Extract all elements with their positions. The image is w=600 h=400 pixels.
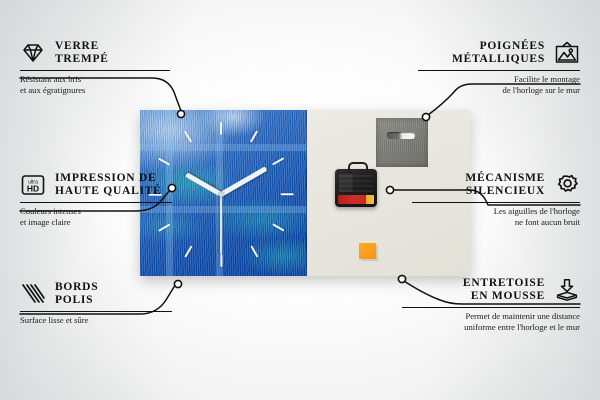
svg-text:HD: HD (27, 184, 39, 194)
feature-title: MÉCANISME SILENCIEUX (412, 172, 545, 198)
hands-center-cap (219, 192, 224, 197)
feature-impression-haute-qualite: ultra HD IMPRESSION DE HAUTE QUALITÉ Cou… (20, 172, 195, 228)
feature-rule (402, 307, 580, 308)
foam-spacer-icon (554, 278, 580, 302)
hour-marker (184, 131, 193, 143)
feature-rule (20, 202, 172, 203)
feature-description: Les aiguilles de l'horloge ne font aucun… (412, 206, 580, 227)
battery (338, 195, 374, 204)
clock-mechanism-box (335, 169, 377, 207)
feature-rule (20, 70, 170, 71)
hour-marker (220, 254, 222, 267)
hour-marker (250, 245, 259, 257)
foam-spacer-pad (359, 243, 376, 259)
hand-second (220, 194, 222, 254)
metal-hanger-plate (376, 118, 428, 167)
feature-title: VERRE TREMPÉ (55, 40, 109, 66)
feature-mecanisme-silencieux: MÉCANISME SILENCIEUX Les aiguilles de l'… (412, 172, 580, 228)
feature-rule (412, 202, 580, 203)
infographic-canvas: VERRE TREMPÉ Résistant aux bris et aux é… (0, 0, 600, 400)
feature-poignees-metalliques: POIGNÉES MÉTALLIQUES Facilite le montage… (418, 40, 580, 96)
feature-title: IMPRESSION DE HAUTE QUALITÉ (55, 172, 162, 198)
hanger-keyhole-slot (387, 132, 415, 139)
feature-rule (418, 70, 580, 71)
picture-hanger-icon (554, 41, 580, 65)
hour-marker (272, 157, 284, 166)
gear-icon (554, 173, 580, 197)
mechanism-surface-detail (339, 174, 373, 192)
feature-entretoise-en-mousse: ENTRETOISE EN MOUSSE Permet de maintenir… (402, 277, 580, 333)
hour-marker (184, 245, 193, 257)
feature-verre-trempe: VERRE TREMPÉ Résistant aux bris et aux é… (20, 40, 185, 96)
hour-marker (280, 193, 293, 195)
feature-description: Résistant aux bris et aux égratignures (20, 74, 185, 95)
beveled-edge-icon (20, 282, 46, 306)
hour-marker (250, 131, 259, 143)
mechanism-hanging-loop (348, 162, 368, 173)
feature-title: POIGNÉES MÉTALLIQUES (418, 40, 545, 66)
hand-minute (220, 166, 267, 196)
feature-title: ENTRETOISE EN MOUSSE (402, 277, 545, 303)
feature-bords-polis: BORDS POLIS Surface lisse et sûre (20, 281, 185, 326)
ultra-hd-icon: ultra HD (20, 173, 46, 197)
feature-description: Couleurs intenses et image claire (20, 206, 195, 227)
feature-description: Surface lisse et sûre (20, 315, 185, 326)
feature-description: Facilite le montage de l'horloge sur le … (418, 74, 580, 95)
artwork-band (140, 144, 306, 151)
feature-description: Permet de maintenir une distance uniform… (402, 311, 580, 332)
diamond-icon (20, 41, 46, 65)
feature-title: BORDS POLIS (55, 281, 98, 307)
feature-rule (20, 311, 172, 312)
hour-marker (272, 223, 284, 232)
